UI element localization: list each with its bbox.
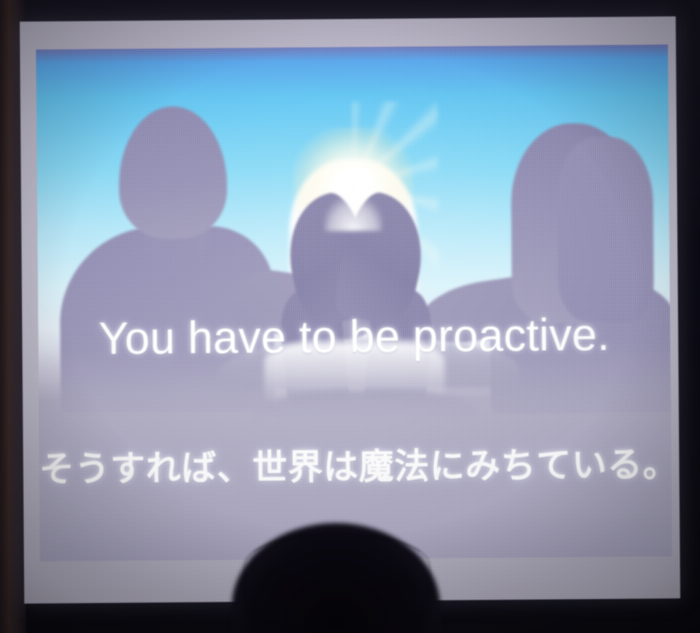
projected-slide-photograph: You have to be proactive. そうすれば、世界は魔法にみち… — [0, 0, 700, 633]
slide-headline-english: You have to be proactive. — [38, 308, 670, 365]
heart-hands-icon — [324, 197, 382, 231]
woman-silhouette-head — [557, 137, 654, 324]
slide-headline-japanese: そうすれば、世界は魔法にみちている。 — [39, 436, 671, 492]
presentation-slide: You have to be proactive. そうすれば、世界は魔法にみち… — [36, 44, 672, 561]
audience-hair-wisps — [244, 533, 430, 597]
projection-screen: You have to be proactive. そうすれば、世界は魔法にみち… — [20, 16, 681, 603]
